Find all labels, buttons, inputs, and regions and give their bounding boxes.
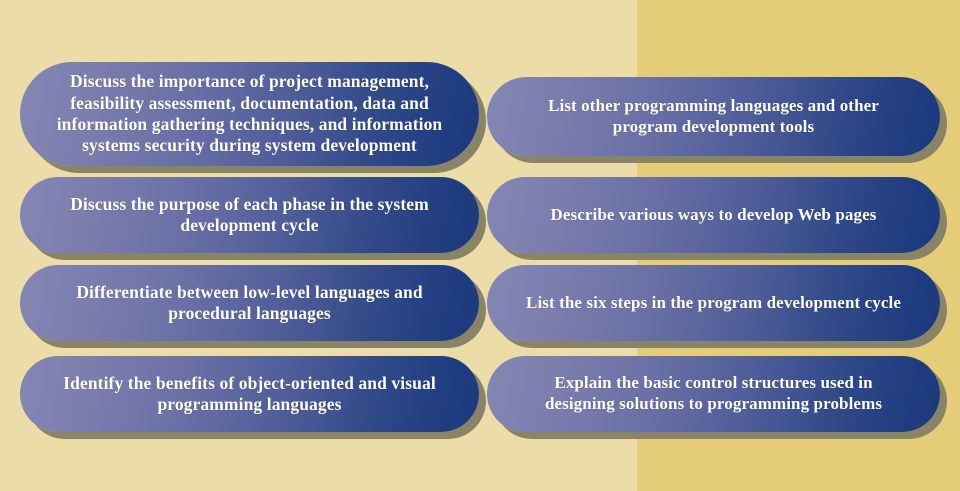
objective-text: Discuss the purpose of each phase in the… (66, 194, 433, 237)
slide-canvas: Discuss the importance of project manage… (0, 0, 960, 491)
objective-callout[interactable]: Explain the basic control structures use… (487, 356, 940, 432)
objective-callout[interactable]: Identify the benefits of object-oriented… (20, 356, 479, 432)
objective-text: List other programming languages and oth… (533, 96, 894, 137)
objective-text: List the six steps in the program develo… (511, 293, 916, 314)
objective-callout[interactable]: Discuss the purpose of each phase in the… (20, 177, 479, 253)
objective-callout[interactable]: Describe various ways to develop Web pag… (487, 177, 940, 253)
objective-callout[interactable]: List other programming languages and oth… (487, 77, 940, 156)
objective-text: Explain the basic control structures use… (521, 373, 906, 414)
objective-callout[interactable]: List the six steps in the program develo… (487, 265, 940, 341)
objective-text: Differentiate between low-level language… (60, 282, 439, 325)
objective-text: Identify the benefits of object-oriented… (50, 373, 449, 416)
objective-callout[interactable]: Discuss the importance of project manage… (20, 62, 479, 166)
objective-callout[interactable]: Differentiate between low-level language… (20, 265, 479, 341)
objective-text: Describe various ways to develop Web pag… (533, 205, 894, 226)
objective-text: Discuss the importance of project manage… (48, 71, 451, 156)
